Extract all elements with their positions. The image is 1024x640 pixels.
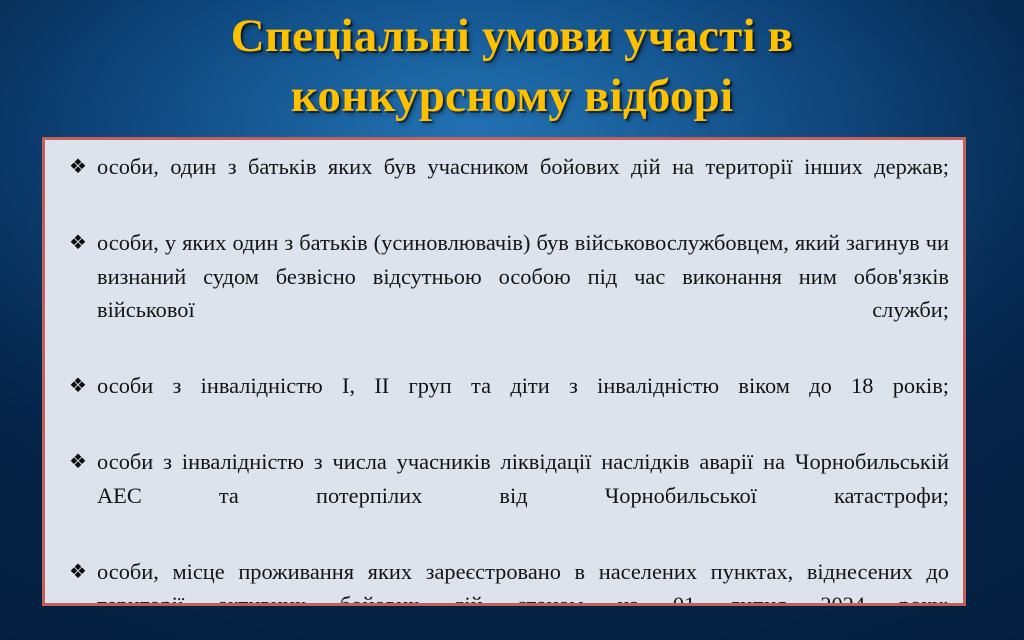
slide-title: Спеціальні умови участі в конкурсному ві… <box>60 6 964 126</box>
slide-title-line-1: Спеціальні умови участі в <box>60 6 964 66</box>
list-item-text: особи, місце проживання яких зареєстрова… <box>97 555 949 607</box>
diamond-bullet-icon: ❖ <box>69 150 93 184</box>
list-item: ❖ особи, один з батьків яких був учасник… <box>55 150 949 217</box>
list-item-text: особи, у яких один з батьків (усиновлюва… <box>97 226 949 360</box>
list-item: ❖ особи, у яких один з батьків (усиновлю… <box>55 226 949 360</box>
list-item-text: особи з інвалідністю з числа учасників л… <box>97 445 949 546</box>
list-item: ❖ особи з інвалідністю I, II груп та діт… <box>55 369 949 436</box>
diamond-bullet-icon: ❖ <box>69 555 93 589</box>
diamond-bullet-icon: ❖ <box>69 226 93 260</box>
diamond-bullet-icon: ❖ <box>69 445 93 479</box>
eligibility-bullet-list: ❖ особи, один з батьків яких був учасник… <box>55 150 949 606</box>
presentation-slide: Спеціальні умови участі в конкурсному ві… <box>0 0 1024 640</box>
list-item: ❖ особи, місце проживання яких зареєстро… <box>55 555 949 607</box>
slide-title-line-2: конкурсному відборі <box>60 66 964 126</box>
content-panel: ❖ особи, один з батьків яких був учасник… <box>42 137 966 606</box>
list-item: ❖ особи з інвалідністю з числа учасників… <box>55 445 949 546</box>
diamond-bullet-icon: ❖ <box>69 369 93 403</box>
list-item-text: особи з інвалідністю I, II груп та діти … <box>97 369 949 436</box>
list-item-text: особи, один з батьків яких був учасником… <box>97 150 949 217</box>
